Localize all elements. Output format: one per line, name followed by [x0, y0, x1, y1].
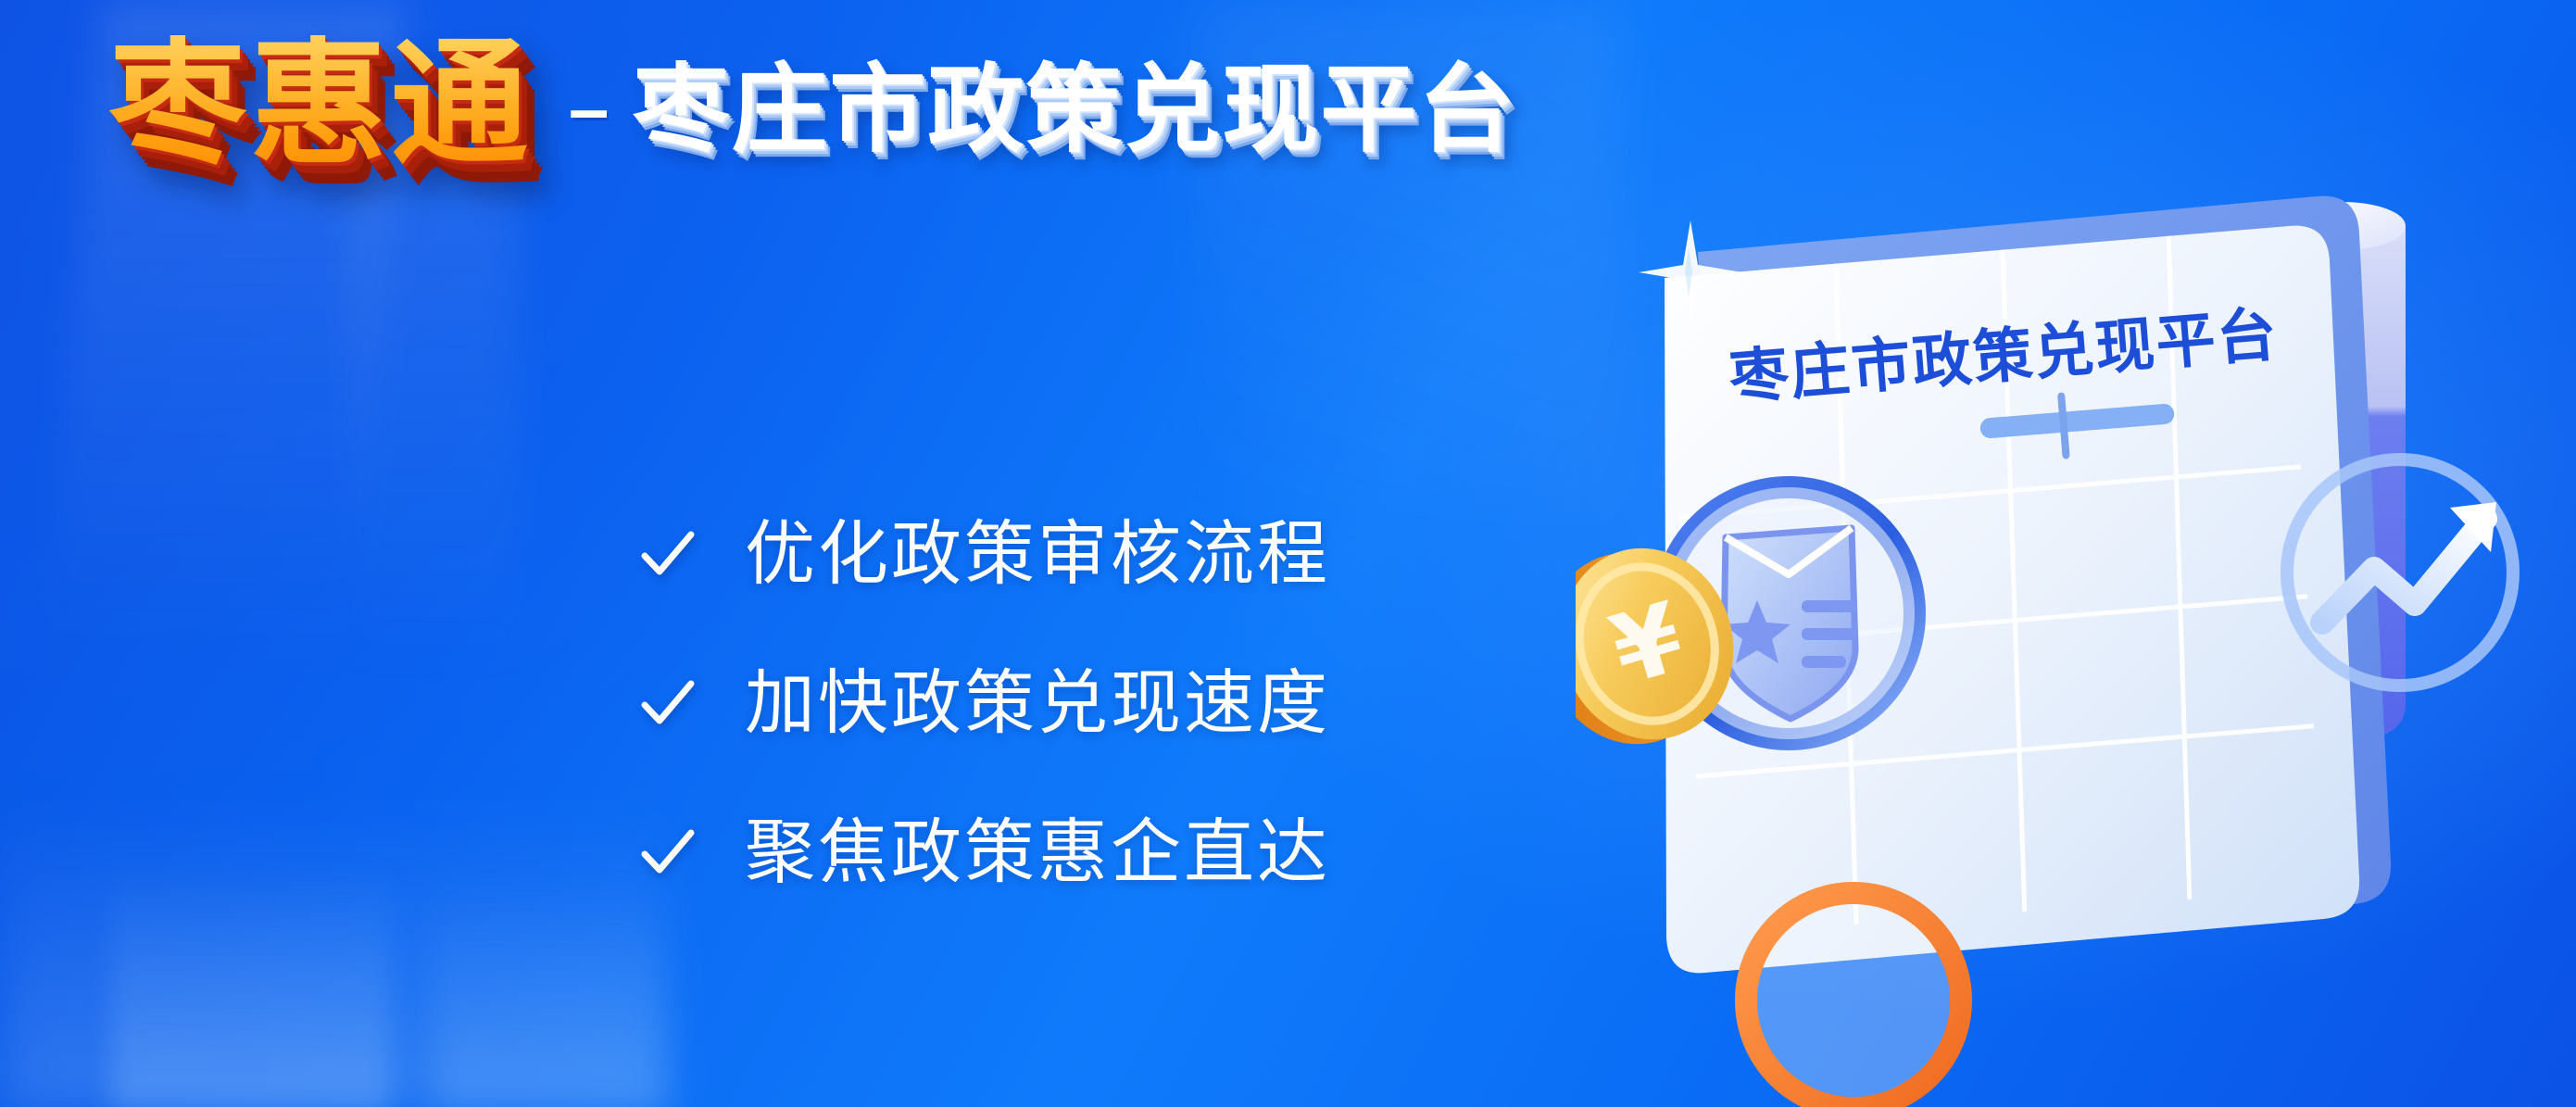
check-icon — [639, 824, 697, 881]
list-item-label: 加快政策兑现速度 — [745, 668, 1330, 738]
shield-star-icon — [1663, 487, 1915, 739]
card-progress-bar — [1979, 403, 2175, 439]
list-item: 聚焦政策惠企直达 — [639, 817, 1330, 887]
banner-headline: 枣惠通 – 枣庄市政策兑现平台 — [109, 35, 1516, 172]
platform-card: 枣庄市政策兑现平台 — [1665, 226, 2359, 974]
platform-illustration: 枣庄市政策兑现平台 — [1576, 0, 2576, 1107]
coin-yuan-symbol: ¥ — [1600, 580, 1695, 707]
background-pillar-right — [435, 880, 667, 1107]
card-back-layer — [1698, 196, 2391, 960]
sparkle-icon — [1639, 220, 1742, 324]
coin-icon: ¥ — [1576, 528, 1755, 765]
list-item: 优化政策审核流程 — [639, 519, 1330, 589]
trend-up-arrow-icon — [2287, 459, 2513, 686]
list-item: 加快政策兑现速度 — [639, 668, 1330, 738]
magnifier-icon — [1746, 893, 1961, 1107]
brand-title: 枣惠通 — [109, 35, 537, 172]
background-glow-bottom — [0, 797, 667, 1107]
headline-separator: – — [569, 72, 609, 145]
card-progress-marker — [2057, 392, 2070, 459]
card-title: 枣庄市政策兑现平台 — [1726, 301, 2281, 413]
feature-bullet-list: 优化政策审核流程 加快政策兑现速度 聚焦政策惠企直达 — [639, 519, 1330, 887]
check-icon — [639, 525, 697, 583]
background-pillar-left — [111, 862, 389, 1107]
list-item-label: 优化政策审核流程 — [745, 519, 1330, 589]
policy-platform-banner: 枣惠通 – 枣庄市政策兑现平台 优化政策审核流程 加快政策兑现速度 — [0, 0, 2576, 1107]
background-building-ghost-mid — [352, 111, 519, 686]
illustration-pedestal — [1757, 363, 1957, 500]
list-item-label: 聚焦政策惠企直达 — [745, 817, 1330, 887]
banner-subtitle: 枣庄市政策兑现平台 — [633, 61, 1516, 157]
bar-chart-icon — [1822, 202, 2406, 741]
check-icon — [639, 674, 697, 732]
